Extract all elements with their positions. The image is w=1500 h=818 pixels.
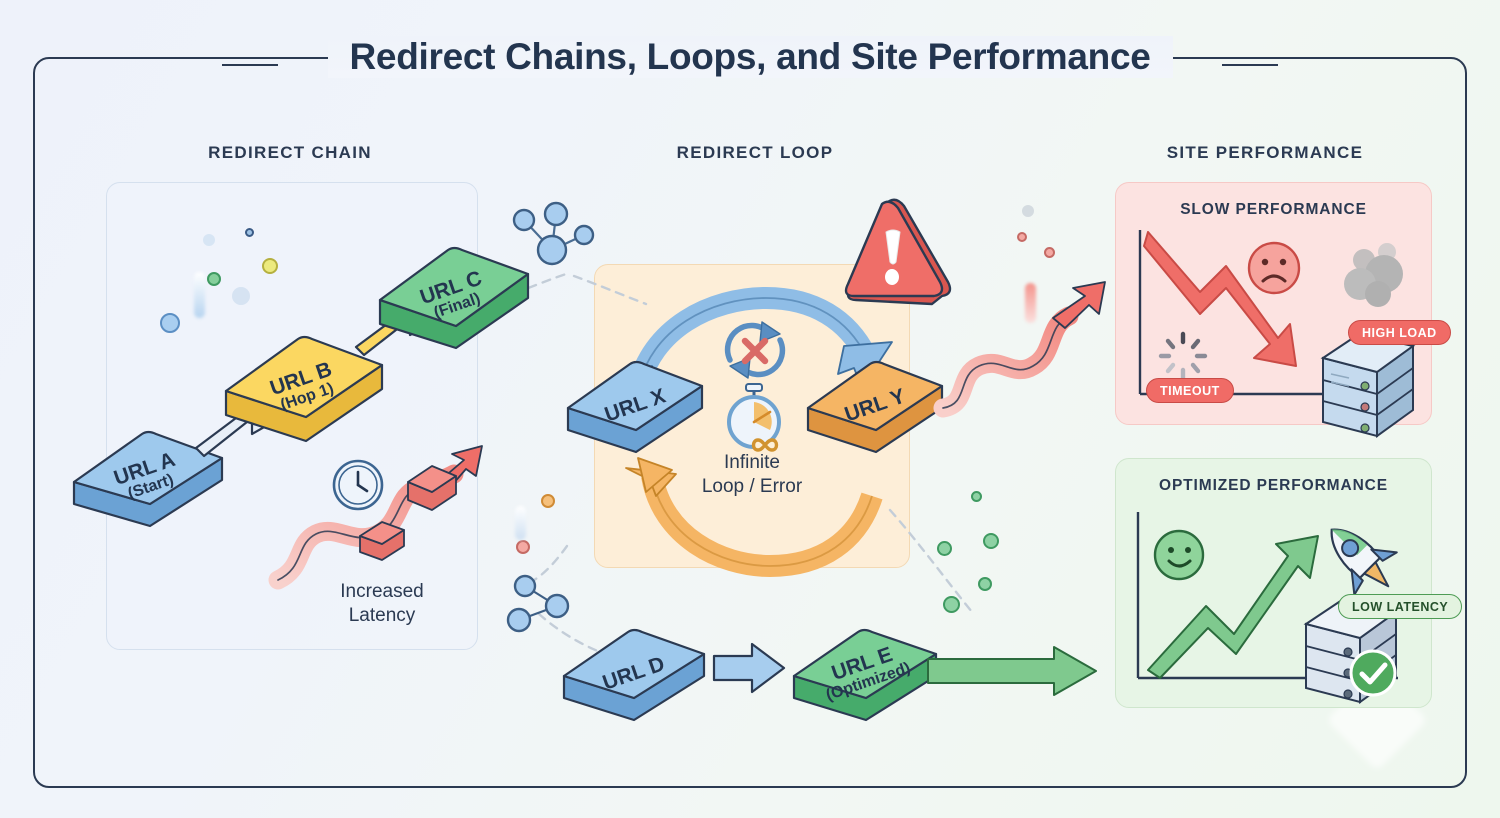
- rocket-icon: [1314, 512, 1406, 604]
- decor-dot-yellow: [262, 258, 278, 274]
- decor-bar-blue: [194, 272, 205, 318]
- decor-dot-orange: [541, 494, 555, 508]
- smoke-cloud-icon: [1332, 236, 1418, 320]
- node-url-c[interactable]: URL C (Final): [370, 238, 538, 352]
- node-url-d[interactable]: URL D: [556, 620, 712, 724]
- optimized-performance-title: OPTIMIZED PERFORMANCE: [1116, 477, 1431, 495]
- check-circle-icon: [1348, 648, 1398, 698]
- spinner-icon: [1155, 328, 1211, 384]
- page-title: Redirect Chains, Loops, and Site Perform…: [328, 36, 1173, 78]
- decor-dot-red-3: [1044, 247, 1055, 258]
- section-header-site-performance: SITE PERFORMANCE: [1090, 143, 1440, 163]
- title-rule-right: [1222, 64, 1278, 66]
- decor-dot-red-1: [1022, 205, 1034, 217]
- caption-latency-line1: Increased: [296, 580, 468, 604]
- slow-performance-title: SLOW PERFORMANCE: [1116, 201, 1431, 219]
- node-url-x[interactable]: URL X: [560, 352, 710, 456]
- latency-wavy-path-icon: [268, 440, 488, 590]
- title-bar: Redirect Chains, Loops, and Site Perform…: [0, 36, 1500, 78]
- section-header-redirect-chain: REDIRECT CHAIN: [120, 143, 460, 163]
- decor-dot-blue-large: [160, 313, 180, 333]
- title-rule-left: [222, 64, 278, 66]
- decor-dot-red-2: [1017, 232, 1027, 242]
- badge-high-load: HIGH LOAD: [1348, 320, 1451, 345]
- caption-loop-line2: Loop / Error: [666, 475, 838, 499]
- pink-wavy-arrow-to-slow: [935, 278, 1115, 428]
- sad-face-icon: [1246, 240, 1302, 296]
- arrow-e-to-performance: [926, 645, 1102, 699]
- server-stack-slow-icon: [1315, 330, 1421, 440]
- caption-latency-line2: Latency: [296, 604, 468, 628]
- stopwatch-infinity-icon: [716, 382, 798, 458]
- caption-increased-latency: Increased Latency: [296, 580, 468, 628]
- node-url-e[interactable]: URL E (Optimized): [786, 618, 944, 724]
- node-url-y[interactable]: URL Y: [800, 352, 950, 456]
- refresh-error-icon: [714, 314, 796, 386]
- caption-infinite-loop: Infinite Loop / Error: [666, 451, 838, 499]
- arrow-d-to-e: [712, 642, 792, 698]
- badge-timeout: TIMEOUT: [1146, 378, 1234, 403]
- section-header-redirect-loop: REDIRECT LOOP: [590, 143, 920, 163]
- badge-low-latency: LOW LATENCY: [1338, 594, 1462, 619]
- decor-dot-blue-soft-1: [203, 234, 215, 246]
- decor-dot-green-small: [207, 272, 221, 286]
- decor-dot-navy-tiny: [245, 228, 254, 237]
- caption-loop-line1: Infinite: [666, 451, 838, 475]
- decor-dot-blue-soft-2: [232, 287, 250, 305]
- happy-face-icon: [1152, 528, 1206, 582]
- decor-bar-lightblue: [515, 506, 526, 540]
